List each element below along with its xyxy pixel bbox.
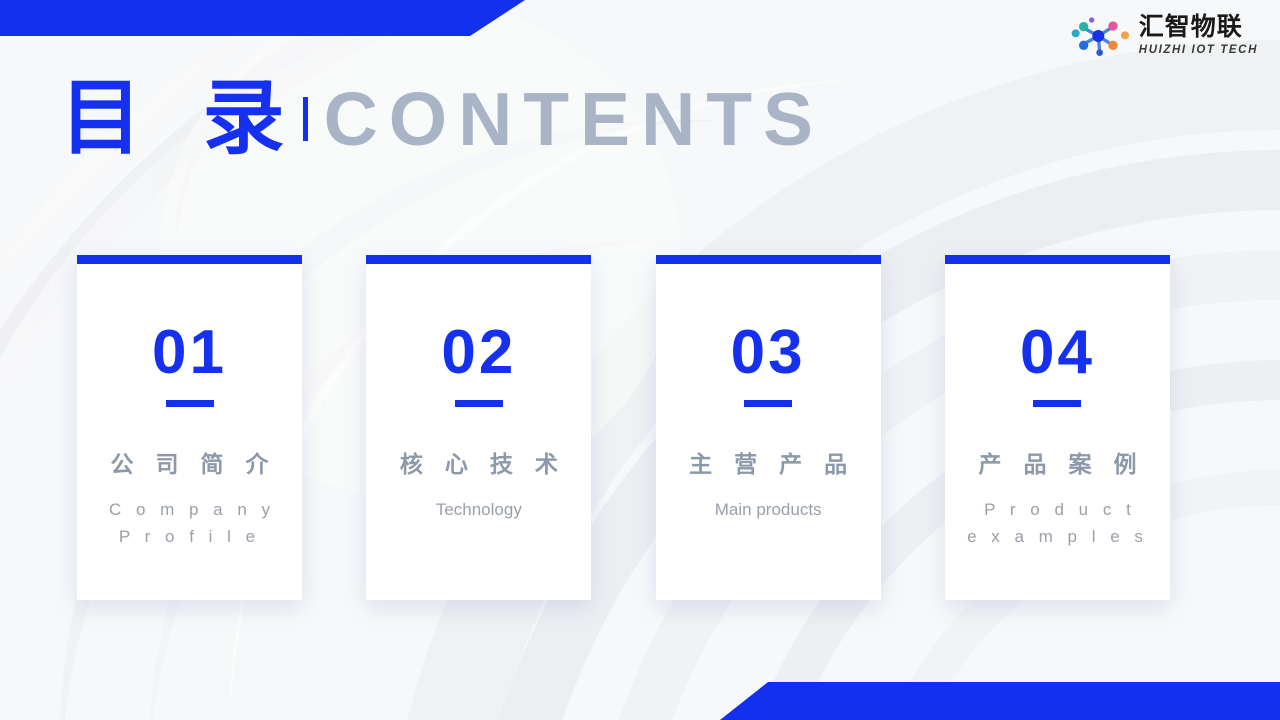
contents-card-02[interactable]: 02 核 心 技 术 Technology (366, 255, 591, 600)
card-title-en: C o m p a n y P r o f i l e (77, 496, 302, 550)
card-title-cn: 公 司 简 介 (103, 452, 275, 480)
contents-card-01[interactable]: 01 公 司 简 介 C o m p a n y P r o f i l e (77, 255, 302, 600)
card-title-en: Technology (366, 496, 591, 523)
card-underline-rule (166, 400, 214, 407)
contents-slide: 汇智物联 HUIZHI IOT TECH 目 录 CONTENTS 01 公 司… (0, 0, 1280, 720)
card-title-cn: 产 品 案 例 (971, 452, 1143, 480)
contents-card-03[interactable]: 03 主 营 产 品 Main products (656, 255, 881, 600)
molecule-network-icon (1069, 14, 1133, 58)
card-number: 03 (731, 322, 806, 384)
card-number: 01 (152, 322, 227, 384)
card-title-en: P r o d u c t e x a m p l e s (945, 496, 1170, 550)
brand-logo: 汇智物联 HUIZHI IOT TECH (1069, 14, 1258, 58)
card-underline-rule (455, 400, 503, 407)
card-underline-rule (744, 400, 792, 407)
title-divider (303, 97, 308, 141)
top-accent-banner (0, 0, 525, 36)
page-title-en: CONTENTS (324, 82, 825, 157)
card-title-cn: 核 心 技 术 (393, 452, 565, 480)
card-title-cn: 主 营 产 品 (682, 452, 854, 480)
card-underline-rule (1033, 400, 1081, 407)
page-title: 目 录 CONTENTS (60, 78, 824, 160)
brand-name-en: HUIZHI IOT TECH (1139, 42, 1258, 58)
card-top-accent-bar (656, 255, 881, 264)
brand-name-cn: 汇智物联 (1139, 14, 1243, 40)
contents-card-list: 01 公 司 简 介 C o m p a n y P r o f i l e 0… (77, 255, 1170, 600)
card-title-en: Main products (656, 496, 881, 523)
bottom-accent-banner (720, 682, 1280, 720)
card-number: 04 (1020, 322, 1095, 384)
contents-card-04[interactable]: 04 产 品 案 例 P r o d u c t e x a m p l e s (945, 255, 1170, 600)
page-title-cn: 目 录 (60, 78, 301, 160)
card-number: 02 (441, 322, 516, 384)
card-top-accent-bar (366, 255, 591, 264)
card-top-accent-bar (945, 255, 1170, 264)
card-top-accent-bar (77, 255, 302, 264)
